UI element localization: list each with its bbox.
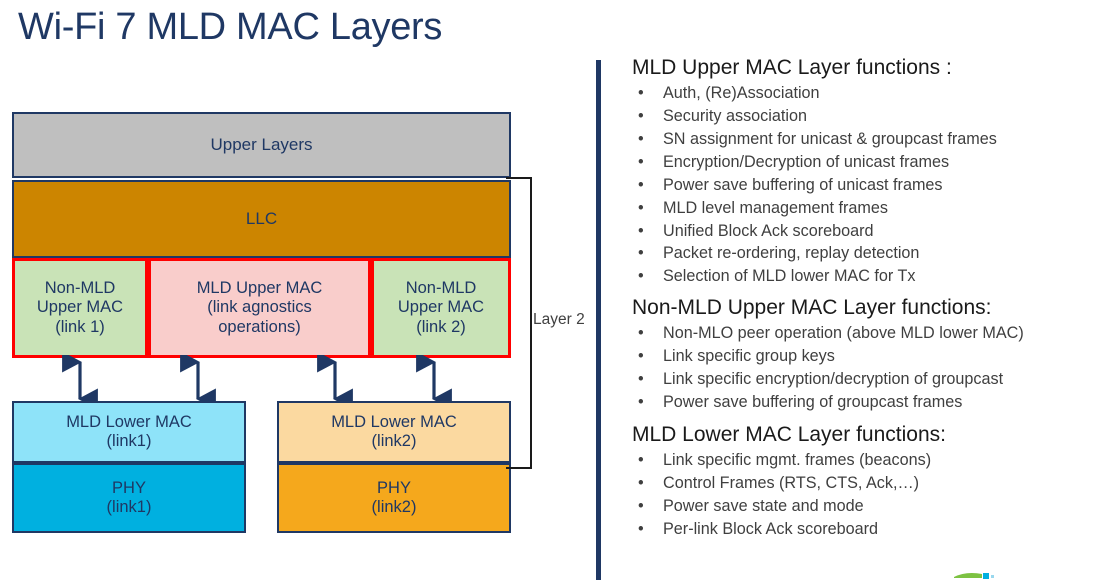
list-item-label: Power save buffering of unicast frames xyxy=(663,176,943,194)
block-label: Upper Layers xyxy=(210,135,312,155)
bullet-icon: • xyxy=(638,197,644,220)
list-item-label: Selection of MLD lower MAC for Tx xyxy=(663,267,916,285)
list-item-label: Packet re-ordering, replay detection xyxy=(663,244,919,262)
block-label-line1: Non-MLD xyxy=(37,279,123,298)
list-item-label: MLD level management frames xyxy=(663,199,888,217)
block-label-line1: PHY xyxy=(107,479,152,498)
block-upper-layers: Upper Layers xyxy=(12,112,511,178)
functions-panel: MLD Upper MAC Layer functions : •Auth, (… xyxy=(596,55,1105,580)
block-label-line3: operations) xyxy=(197,318,323,337)
list-item-label: Control Frames (RTS, CTS, Ack,…) xyxy=(663,474,919,492)
list-item-label: Non-MLO peer operation (above MLD lower … xyxy=(663,324,1024,342)
block-label-line1: MLD Lower MAC xyxy=(66,413,192,432)
bullet-icon: • xyxy=(638,128,644,151)
list-item-label: Link specific mgmt. frames (beacons) xyxy=(663,451,931,469)
bullet-icon: • xyxy=(638,449,644,472)
list-item-label: Auth, (Re)Association xyxy=(663,84,820,102)
bullet-icon: • xyxy=(638,174,644,197)
block-label-line2: (link1) xyxy=(107,498,152,517)
list-item-label: Power save state and mode xyxy=(663,497,864,515)
bullet-icon: • xyxy=(638,265,644,288)
list-item: •Unified Block Ack scoreboard xyxy=(632,220,1105,243)
list-item: •Encryption/Decryption of unicast frames xyxy=(632,151,1105,174)
list-item: •Non-MLO peer operation (above MLD lower… xyxy=(632,322,1105,345)
list-item-label: Unified Block Ack scoreboard xyxy=(663,222,874,240)
section-non-mld-upper-mac: Non-MLD Upper MAC Layer functions: •Non-… xyxy=(632,295,1105,414)
block-label-line1: PHY xyxy=(372,479,417,498)
block-non-mld-upper-mac-link2: Non-MLD Upper MAC (link 2) xyxy=(371,258,511,358)
bullet-icon: • xyxy=(638,322,644,345)
section-heading: MLD Upper MAC Layer functions : xyxy=(632,55,1105,81)
section-mld-upper-mac: MLD Upper MAC Layer functions : •Auth, (… xyxy=(632,55,1105,288)
list-item: •Power save buffering of unicast frames xyxy=(632,174,1105,197)
accent-bar xyxy=(596,60,601,580)
bullet-list: •Non-MLO peer operation (above MLD lower… xyxy=(632,322,1105,414)
mld-mac-layers-diagram: Upper Layers LLC Non-MLD Upper MAC (link… xyxy=(0,0,600,580)
list-item: •Auth, (Re)Association xyxy=(632,82,1105,105)
block-label-line2: (link2) xyxy=(372,498,417,517)
bullet-icon: • xyxy=(638,105,644,128)
bullet-list: •Auth, (Re)Association •Security associa… xyxy=(632,82,1105,288)
block-label-line2: (link2) xyxy=(331,432,457,451)
list-item: •Power save state and mode xyxy=(632,495,1105,518)
block-label-line2: Upper MAC xyxy=(37,298,123,317)
bullet-icon: • xyxy=(638,391,644,414)
block-label-line1: MLD Upper MAC xyxy=(197,279,323,298)
list-item-label: Encryption/Decryption of unicast frames xyxy=(663,153,949,171)
list-item: •Per-link Block Ack scoreboard xyxy=(632,518,1105,541)
block-label-line1: MLD Lower MAC xyxy=(331,413,457,432)
list-item: •Security association xyxy=(632,105,1105,128)
list-item: •MLD level management frames xyxy=(632,197,1105,220)
list-item: •Packet re-ordering, replay detection xyxy=(632,242,1105,265)
block-label-line2: Upper MAC xyxy=(398,298,484,317)
bullet-icon: • xyxy=(638,82,644,105)
list-item: •Link specific group keys xyxy=(632,345,1105,368)
list-item: •Control Frames (RTS, CTS, Ack,…) xyxy=(632,472,1105,495)
block-non-mld-upper-mac-link1: Non-MLD Upper MAC (link 1) xyxy=(12,258,148,358)
bullet-list: •Link specific mgmt. frames (beacons) •C… xyxy=(632,449,1105,541)
bullet-icon: • xyxy=(638,495,644,518)
block-label-line2: (link1) xyxy=(66,432,192,451)
block-mld-upper-mac: MLD Upper MAC (link agnostics operations… xyxy=(148,258,371,358)
list-item-label: Power save buffering of groupcast frames xyxy=(663,393,962,411)
list-item-label: Link specific group keys xyxy=(663,347,835,365)
list-item: •Link specific mgmt. frames (beacons) xyxy=(632,449,1105,472)
list-item: •Selection of MLD lower MAC for Tx xyxy=(632,265,1105,288)
list-item: •Link specific encryption/decryption of … xyxy=(632,368,1105,391)
block-label-line2: (link agnostics xyxy=(197,298,323,317)
list-item: •Power save buffering of groupcast frame… xyxy=(632,391,1105,414)
slide-canvas: Wi-Fi 7 MLD MAC Layers Upper Layers LLC … xyxy=(0,0,1105,580)
list-item-label: Link specific encryption/decryption of g… xyxy=(663,370,1003,388)
list-item: •SN assignment for unicast & groupcast f… xyxy=(632,128,1105,151)
block-label-line3: (link 2) xyxy=(398,318,484,337)
block-phy-link1: PHY (link1) xyxy=(12,463,246,533)
section-heading: MLD Lower MAC Layer functions: xyxy=(632,422,1105,448)
bullet-icon: • xyxy=(638,220,644,243)
bullet-icon: • xyxy=(638,368,644,391)
corner-logo-icon xyxy=(952,566,1000,580)
list-item-label: SN assignment for unicast & groupcast fr… xyxy=(663,130,997,148)
bullet-icon: • xyxy=(638,242,644,265)
block-label: LLC xyxy=(246,209,277,229)
bullet-icon: • xyxy=(638,518,644,541)
list-item-label: Per-link Block Ack scoreboard xyxy=(663,520,878,538)
bullet-icon: • xyxy=(638,345,644,368)
block-phy-link2: PHY (link2) xyxy=(277,463,511,533)
section-heading: Non-MLD Upper MAC Layer functions: xyxy=(632,295,1105,321)
block-mld-lower-mac-link1: MLD Lower MAC (link1) xyxy=(12,401,246,463)
bullet-icon: • xyxy=(638,472,644,495)
list-item-label: Security association xyxy=(663,107,807,125)
block-llc: LLC xyxy=(12,180,511,258)
bullet-icon: • xyxy=(638,151,644,174)
layer2-label: Layer 2 xyxy=(533,311,585,329)
block-label-line3: (link 1) xyxy=(37,318,123,337)
block-mld-lower-mac-link2: MLD Lower MAC (link2) xyxy=(277,401,511,463)
block-label-line1: Non-MLD xyxy=(398,279,484,298)
section-mld-lower-mac: MLD Lower MAC Layer functions: •Link spe… xyxy=(632,422,1105,541)
